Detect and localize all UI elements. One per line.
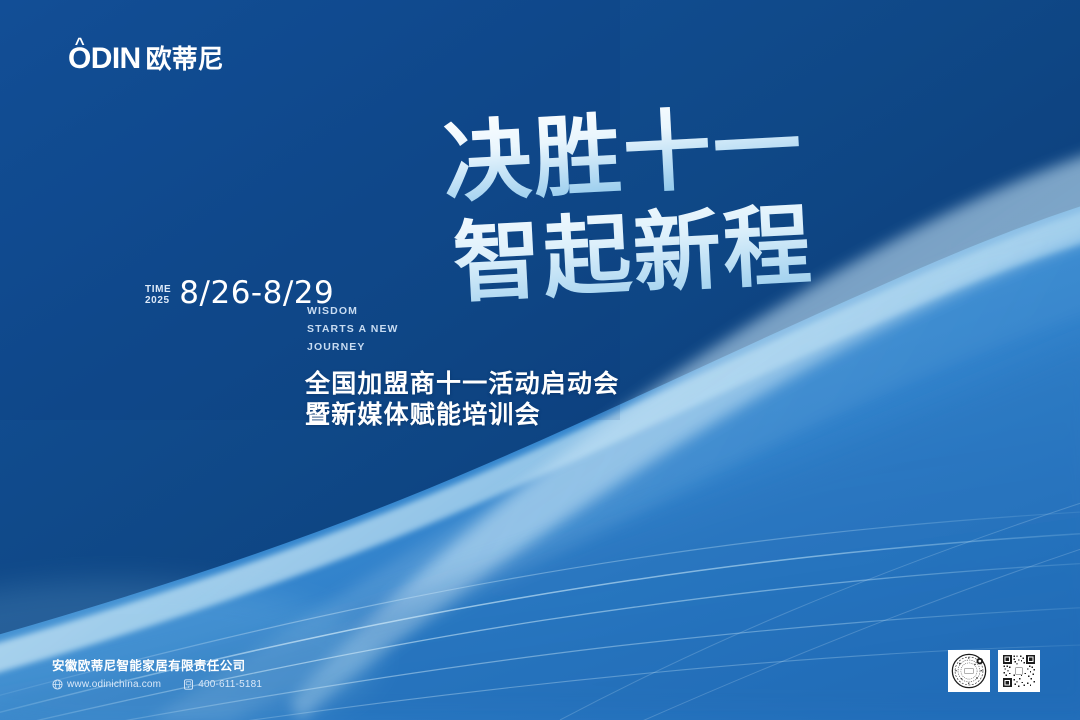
wechat-mini-program-qr[interactable] [998, 650, 1040, 692]
english-tagline: WISDOM STARTS A NEW JOURNEY [307, 302, 399, 356]
circumflex-accent-icon: ^ [75, 35, 84, 52]
contact-row: www.odinichina.com 400-611-5181 [52, 679, 262, 690]
subtitle-line-2: 暨新媒体赋能培训会 [305, 400, 619, 431]
time-label-year: 2025 [145, 295, 171, 306]
headline-calligraphy: 决胜十一 智起新程 [445, 112, 905, 342]
event-date-block: TIME 2025 8/26-8/29 [145, 278, 334, 309]
time-label-stack: TIME 2025 [145, 278, 171, 306]
tagline-line-3: JOURNEY [307, 338, 399, 356]
wechat-official-account-qr[interactable] [948, 650, 990, 692]
website-contact: www.odinichina.com [52, 679, 161, 690]
poster-canvas: ^O DIN 欧蒂尼 决胜十一 智起新程 [0, 0, 1080, 720]
tagline-line-2: STARTS A NEW [307, 320, 399, 338]
globe-icon [52, 679, 63, 690]
logo-latin-text: DIN [91, 42, 141, 75]
subtitle-line-1: 全国加盟商十一活动启动会 [305, 369, 619, 400]
footer-block: 安徽欧蒂尼智能家居有限责任公司 www.odinichina.com [52, 658, 262, 690]
company-name: 安徽欧蒂尼智能家居有限责任公司 [52, 658, 262, 674]
logo-o-letter: ^O [68, 44, 91, 74]
event-subtitle: 全国加盟商十一活动启动会 暨新媒体赋能培训会 [305, 369, 619, 431]
logo-wordmark: ^O DIN [68, 44, 141, 74]
headline-line-2: 智起新程 [451, 192, 816, 315]
logo-chinese-text: 欧蒂尼 [146, 46, 224, 72]
phone-text: 400-611-5181 [198, 679, 262, 690]
brand-logo: ^O DIN 欧蒂尼 [68, 44, 224, 74]
website-text: www.odinichina.com [67, 679, 161, 690]
qr-code-group [948, 650, 1040, 692]
time-label-word: TIME [145, 284, 171, 295]
tagline-line-1: WISDOM [307, 302, 399, 320]
telephone-icon [183, 679, 194, 690]
phone-contact: 400-611-5181 [183, 679, 262, 690]
